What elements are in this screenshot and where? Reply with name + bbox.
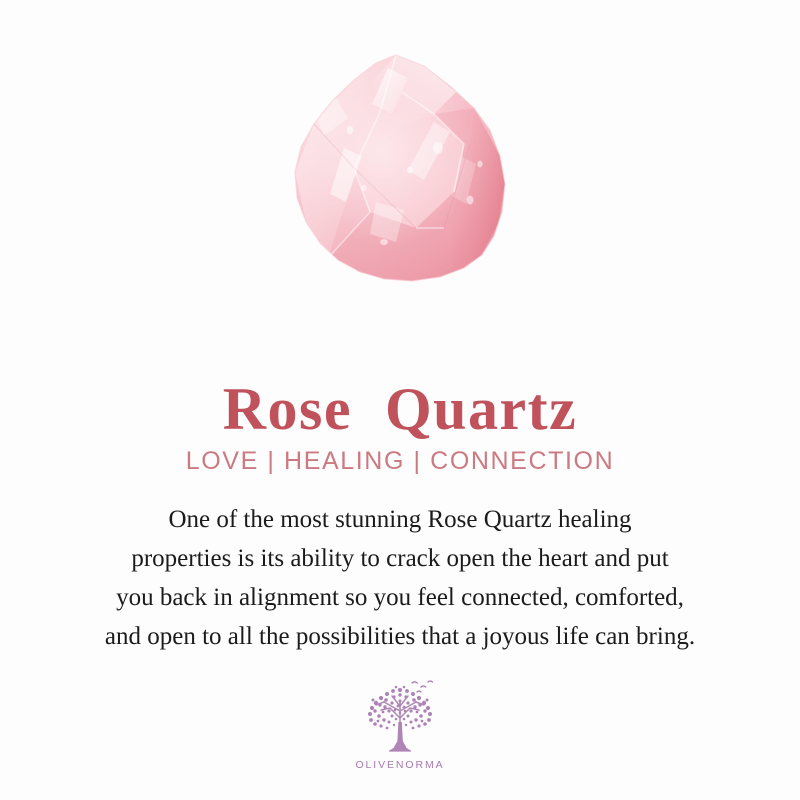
rose-quartz-stone-icon bbox=[284, 52, 516, 288]
rose-quartz-info-card: Rose Quartz LOVE | HEALING | CONNECTION … bbox=[0, 0, 800, 800]
description-line: properties is its ability to crack open … bbox=[34, 539, 766, 578]
description-line: you back in alignment so you feel connec… bbox=[34, 578, 766, 617]
description-line: and open to all the possibilities that a… bbox=[34, 617, 766, 656]
keywords-subtitle: LOVE | HEALING | CONNECTION bbox=[0, 444, 800, 478]
brand-logo: OLIVENORMA bbox=[0, 678, 800, 771]
description-line: One of the most stunning Rose Quartz hea… bbox=[34, 500, 766, 539]
brand-wordmark: OLIVENORMA bbox=[355, 759, 444, 771]
description-text: One of the most stunning Rose Quartz hea… bbox=[34, 500, 766, 656]
page-title: Rose Quartz bbox=[0, 376, 800, 442]
crystal-image-container bbox=[0, 52, 800, 292]
bird-icon bbox=[412, 681, 432, 692]
tree-of-life-icon bbox=[359, 678, 441, 756]
